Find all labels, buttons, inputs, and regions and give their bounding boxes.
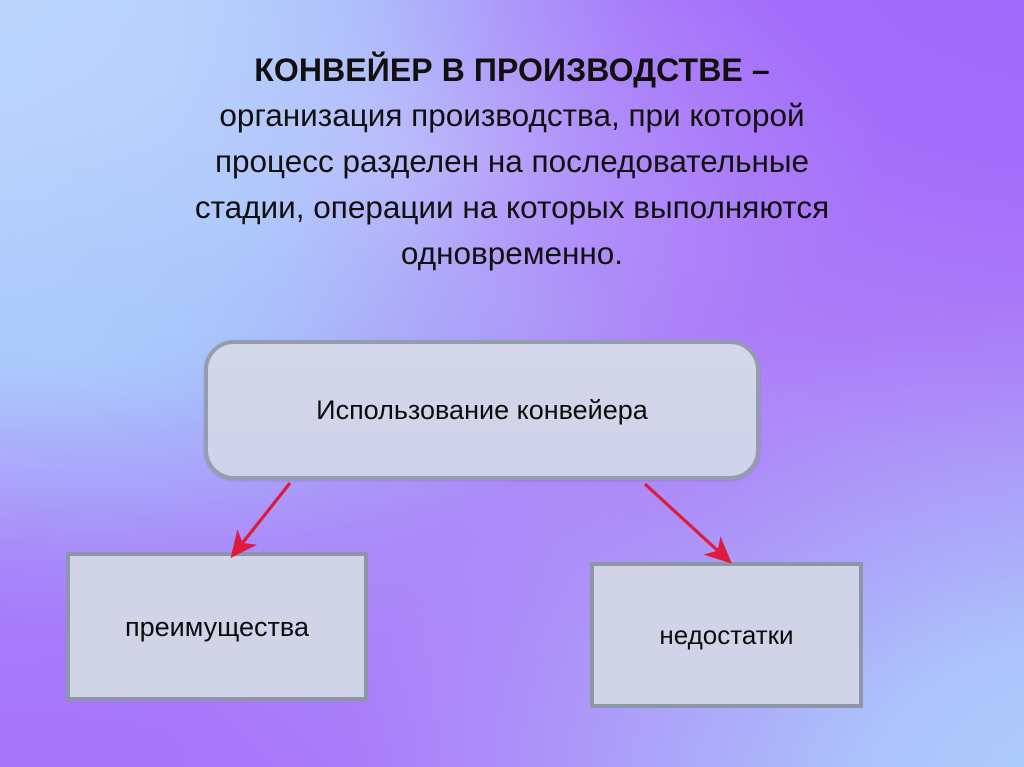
definition-line-3: стадии, операции на которых выполняются xyxy=(0,184,1024,230)
slide-canvas: КОНВЕЙЕР В ПРОИЗВОДСТВЕ – организация пр… xyxy=(0,0,1024,767)
node-main-usage[interactable]: Использование конвейера xyxy=(204,340,760,480)
node-advantages-label: преимущества xyxy=(125,611,309,643)
node-main-usage-label: Использование конвейера xyxy=(316,394,648,426)
definition-line-1: организация производства, при которой xyxy=(0,92,1024,138)
definition-text: организация производства, при которой пр… xyxy=(0,92,1024,276)
node-disadvantages-label: недостатки xyxy=(659,619,793,651)
node-advantages[interactable]: преимущества xyxy=(66,552,368,701)
definition-line-4: одновременно. xyxy=(0,230,1024,276)
node-disadvantages[interactable]: недостатки xyxy=(590,562,863,708)
arrow-main-to-cons xyxy=(645,484,729,561)
heading-block: КОНВЕЙЕР В ПРОИЗВОДСТВЕ – организация пр… xyxy=(0,50,1024,276)
arrow-main-to-pros xyxy=(233,483,290,555)
definition-line-2: процесс разделен на последовательные xyxy=(0,138,1024,184)
slide-title: КОНВЕЙЕР В ПРОИЗВОДСТВЕ – xyxy=(0,50,1024,90)
